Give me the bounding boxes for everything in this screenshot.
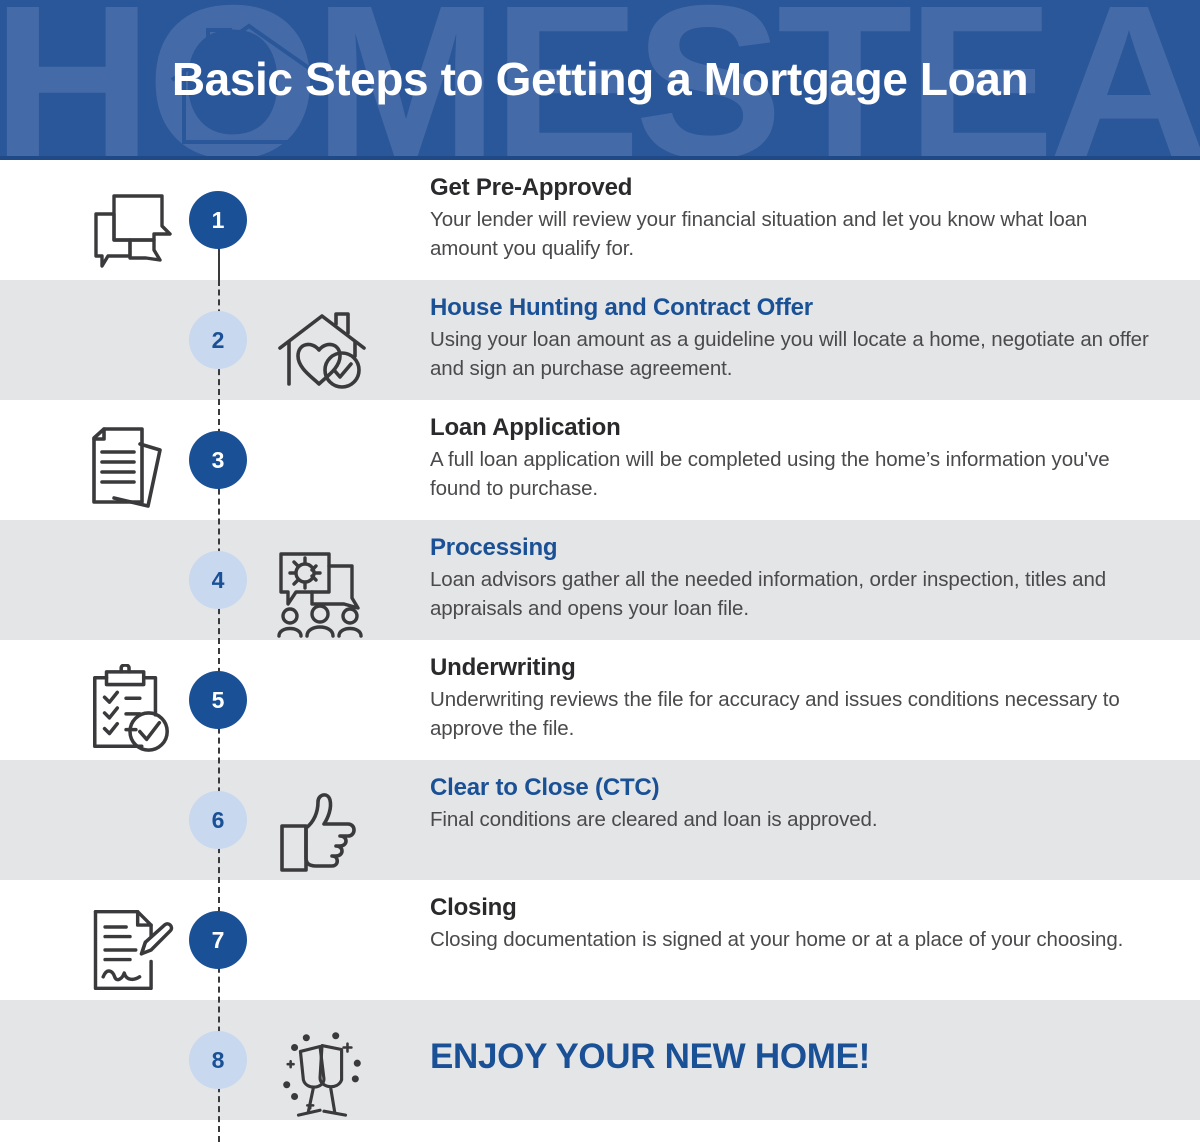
step-copy-4: ProcessingLoan advisors gather all the n… xyxy=(430,534,1150,624)
step-row-2[interactable]: 2 House Hunting and Contract OfferUsing … xyxy=(0,280,1200,400)
signed-document-pen-icon xyxy=(84,904,176,996)
step-number-badge-2: 2 xyxy=(189,311,247,369)
step-number-badge-3: 3 xyxy=(189,431,247,489)
step-row-7[interactable]: 7 ClosingClosing documentation is signed… xyxy=(0,880,1200,1000)
step-copy-8: ENJOY YOUR NEW HOME! xyxy=(430,1036,1150,1077)
step-description-6: Final conditions are cleared and loan is… xyxy=(430,805,1150,834)
step-description-5: Underwriting reviews the file for accura… xyxy=(430,685,1150,743)
step-number-badge-5: 5 xyxy=(189,671,247,729)
page-header: HOMESTEAD Basic Steps to Getting a Mortg… xyxy=(0,0,1200,160)
step-number-badge-8: 8 xyxy=(189,1031,247,1089)
step-title-2: House Hunting and Contract Offer xyxy=(430,294,1150,322)
champagne-toast-icon xyxy=(272,1024,372,1122)
step-number-badge-1: 1 xyxy=(189,191,247,249)
step-description-1: Your lender will review your financial s… xyxy=(430,205,1150,263)
step-copy-3: Loan ApplicationA full loan application … xyxy=(430,414,1150,504)
step-row-1[interactable]: 1 Get Pre-ApprovedYour lender will revie… xyxy=(0,160,1200,280)
step-copy-1: Get Pre-ApprovedYour lender will review … xyxy=(430,174,1150,264)
clipboard-check-icon xyxy=(84,664,176,756)
step-description-4: Loan advisors gather all the needed info… xyxy=(430,565,1150,623)
step-row-5[interactable]: 5 UnderwritingUnderwriting reviews the f… xyxy=(0,640,1200,760)
step-title-8: ENJOY YOUR NEW HOME! xyxy=(430,1036,1150,1077)
house-heart-check-icon xyxy=(272,304,372,402)
step-copy-6: Clear to Close (CTC)Final conditions are… xyxy=(430,774,1150,834)
step-row-6[interactable]: 6 Clear to Close (CTC)Final conditions a… xyxy=(0,760,1200,880)
step-copy-5: UnderwritingUnderwriting reviews the fil… xyxy=(430,654,1150,744)
thumbs-up-icon xyxy=(272,784,372,882)
step-copy-7: ClosingClosing documentation is signed a… xyxy=(430,894,1150,954)
gear-chat-people-icon xyxy=(272,544,372,642)
step-number-badge-4: 4 xyxy=(189,551,247,609)
step-title-4: Processing xyxy=(430,534,1150,562)
step-title-5: Underwriting xyxy=(430,654,1150,682)
step-copy-2: House Hunting and Contract OfferUsing yo… xyxy=(430,294,1150,384)
step-description-3: A full loan application will be complete… xyxy=(430,445,1150,503)
steps-timeline: 1 Get Pre-ApprovedYour lender will revie… xyxy=(0,160,1200,1142)
step-description-2: Using your loan amount as a guideline yo… xyxy=(430,325,1150,383)
step-title-1: Get Pre-Approved xyxy=(430,174,1150,202)
step-number-badge-6: 6 xyxy=(189,791,247,849)
step-title-6: Clear to Close (CTC) xyxy=(430,774,1150,802)
step-description-7: Closing documentation is signed at your … xyxy=(430,925,1150,954)
step-row-3[interactable]: 3 Loan ApplicationA full loan applicatio… xyxy=(0,400,1200,520)
step-row-8[interactable]: 8 ENJOY YOUR NEW HOME! xyxy=(0,1000,1200,1120)
documents-icon xyxy=(84,424,176,516)
step-row-4[interactable]: 4 ProcessingLoan advisors gather all the… xyxy=(0,520,1200,640)
page-title: Basic Steps to Getting a Mortgage Loan xyxy=(0,52,1200,106)
step-title-3: Loan Application xyxy=(430,414,1150,442)
speech-bubbles-icon xyxy=(84,184,176,276)
step-title-7: Closing xyxy=(430,894,1150,922)
step-number-badge-7: 7 xyxy=(189,911,247,969)
